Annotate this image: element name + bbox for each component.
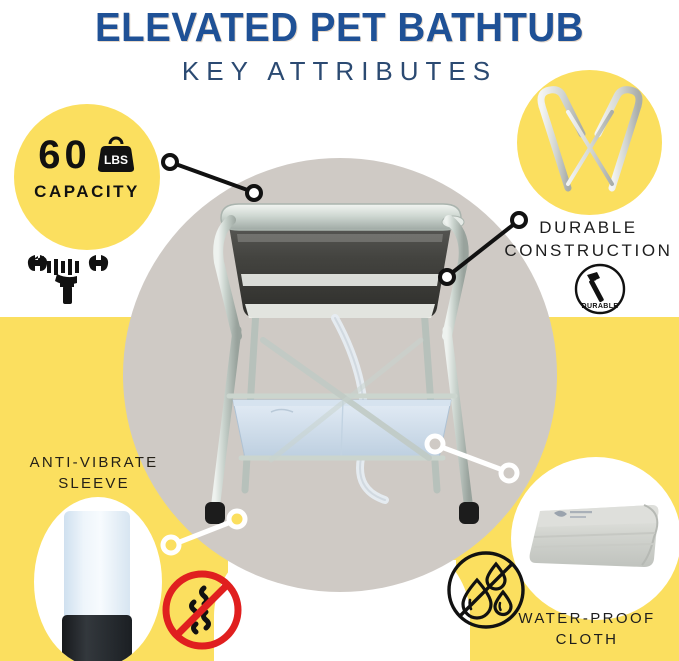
cloth-photo-disc: [511, 457, 679, 620]
waterproof-cloth-photo: [524, 497, 668, 575]
capacity-value-row: 60 LBS: [14, 130, 160, 180]
hammer-icon: DURABLE: [574, 263, 626, 315]
page-title: ELEVATED PET BATHTUB: [20, 4, 658, 50]
no-water-droplets-icon: [444, 548, 528, 632]
infographic-canvas: ELEVATED PET BATHTUB KEY ATTRIBUTES: [0, 0, 679, 661]
sleeve-photo-disc: [34, 497, 162, 661]
anti-vibrate-line-1: ANTI-VIBRATE: [8, 452, 180, 473]
sleeve-tube-body: [64, 511, 130, 619]
durable-line-1: DURABLE: [498, 216, 679, 239]
durable-construction-label: DURABLE CONSTRUCTION: [498, 216, 679, 262]
product-image: [185, 190, 497, 550]
no-vibration-icon: [160, 568, 244, 652]
waterproof-line-2: CLOTH: [495, 629, 679, 650]
wrench-hand-icon: [27, 252, 109, 304]
anti-vibrate-line-2: SLEEVE: [8, 473, 180, 494]
leg-sleeve-photo: [64, 511, 130, 661]
durable-stamp-text: DURABLE: [581, 303, 618, 310]
weight-bag-icon: LBS: [96, 135, 136, 175]
capacity-number: 60: [38, 135, 91, 175]
anti-vibrate-label: ANTI-VIBRATE SLEEVE: [8, 452, 180, 494]
sleeve-rubber-foot: [62, 615, 132, 661]
durable-line-2: CONSTRUCTION: [498, 239, 679, 262]
capacity-unit-text: LBS: [104, 153, 128, 167]
capacity-label: CAPACITY: [14, 182, 160, 202]
folding-frame-photo: [524, 76, 656, 208]
